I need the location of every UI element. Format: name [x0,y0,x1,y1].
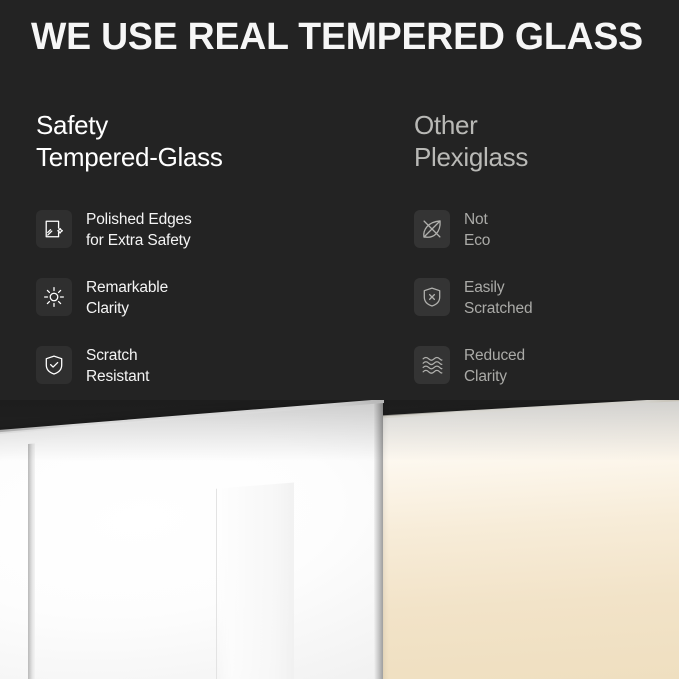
feature-label: Remarkable Clarity [86,277,168,319]
feature-list: Polished Edges for Extra Safety Remarkab… [36,209,396,413]
feature-row: Not Eco [414,209,679,277]
leaf-slash-icon [414,210,450,248]
column-heading: Other Plexiglass [414,110,679,173]
tempered-glass-sheet-edge [374,401,383,679]
feature-row: Remarkable Clarity [36,277,396,345]
infographic-banner: WE USE REAL TEMPERED GLASS Safety Temper… [0,0,679,679]
feature-row: Polished Edges for Extra Safety [36,209,396,277]
tempered-glass-reflection [216,483,294,679]
polished-edges-icon [36,210,72,248]
column-heading: Safety Tempered-Glass [36,110,396,173]
column-other-plexiglass: Other Plexiglass Not Eco [414,110,679,413]
wavy-lines-icon [414,346,450,384]
feature-label: Polished Edges for Extra Safety [86,209,192,251]
tempered-glass-left-edge [28,443,35,679]
tempered-glass-sheet [0,402,375,679]
column-safety-tempered-glass: Safety Tempered-Glass Polished Edges for… [36,110,396,413]
page-title: WE USE REAL TEMPERED GLASS [31,17,642,58]
feature-label: Not Eco [464,209,490,251]
feature-label: Scratch Resistant [86,345,149,387]
feature-row: Easily Scratched [414,277,679,345]
feature-label: Easily Scratched [464,277,532,319]
feature-label: Reduced Clarity [464,345,525,387]
clarity-sun-icon [36,278,72,316]
shield-check-icon [36,346,72,384]
plexiglass-sheet [352,400,679,679]
shield-x-icon [414,278,450,316]
product-photo [0,400,679,679]
feature-list: Not Eco Easily Scratched [414,209,679,413]
